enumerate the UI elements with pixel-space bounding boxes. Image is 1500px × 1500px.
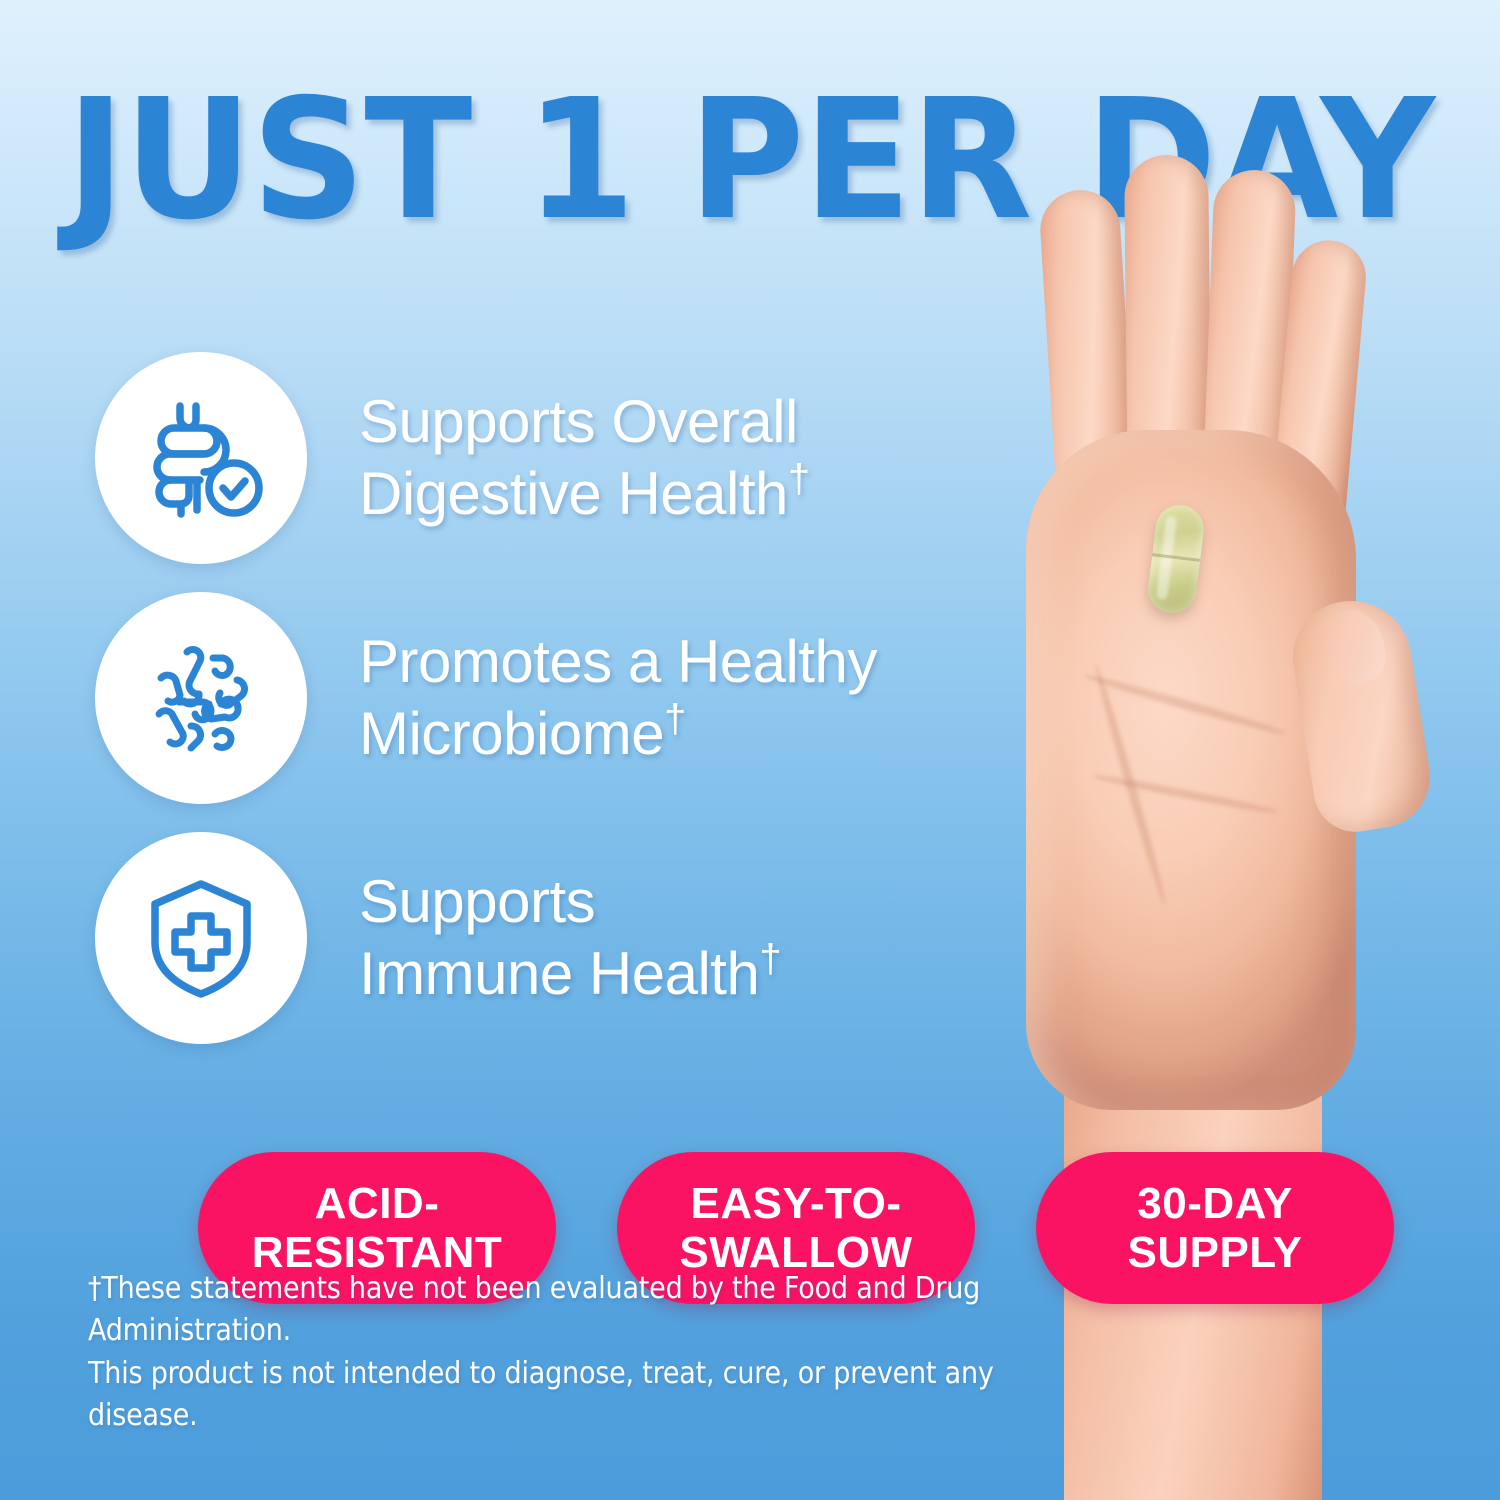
badge-line-2: SUPPLY [1127,1228,1302,1277]
benefit-line-1: Supports Overall [359,388,798,455]
disclaimer-line-1: †These statements have not been evaluate… [88,1268,1088,1353]
benefit-item-microbiome: Promotes a Healthy Microbiome† [95,592,975,804]
dagger-symbol: † [759,937,781,981]
badge-30-day-supply: 30-DAY SUPPLY [1036,1152,1394,1304]
benefit-line-1: Supports [359,868,595,935]
badge-line-1: EASY-TO- [690,1179,901,1228]
benefit-line-2: Immune Health [359,940,759,1007]
intestine-check-icon [95,352,307,564]
badge-line-1: ACID- [315,1179,440,1228]
benefit-item-digestive: Supports Overall Digestive Health† [95,352,975,564]
benefit-list: Supports Overall Digestive Health† [95,352,975,1072]
badge-line-1: 30-DAY [1137,1179,1292,1228]
fda-disclaimer: †These statements have not been evaluate… [88,1268,1088,1438]
microbiome-bacteria-icon [95,592,307,804]
disclaimer-line-2: This product is not intended to diagnose… [88,1353,1088,1438]
benefit-label: Promotes a Healthy Microbiome† [359,628,877,768]
benefit-label: Supports Overall Digestive Health† [359,388,810,528]
dagger-symbol: † [664,697,686,741]
benefit-line-1: Promotes a Healthy [359,628,877,695]
benefit-item-immune: Supports Immune Health† [95,832,975,1044]
dagger-symbol: † [788,457,810,501]
benefit-line-2: Microbiome [359,700,664,767]
promo-image: JUST 1 PER DAY [0,0,1500,1500]
benefit-line-2: Digestive Health [359,460,788,527]
benefit-label: Supports Immune Health† [359,868,781,1008]
shield-cross-icon [95,832,307,1044]
